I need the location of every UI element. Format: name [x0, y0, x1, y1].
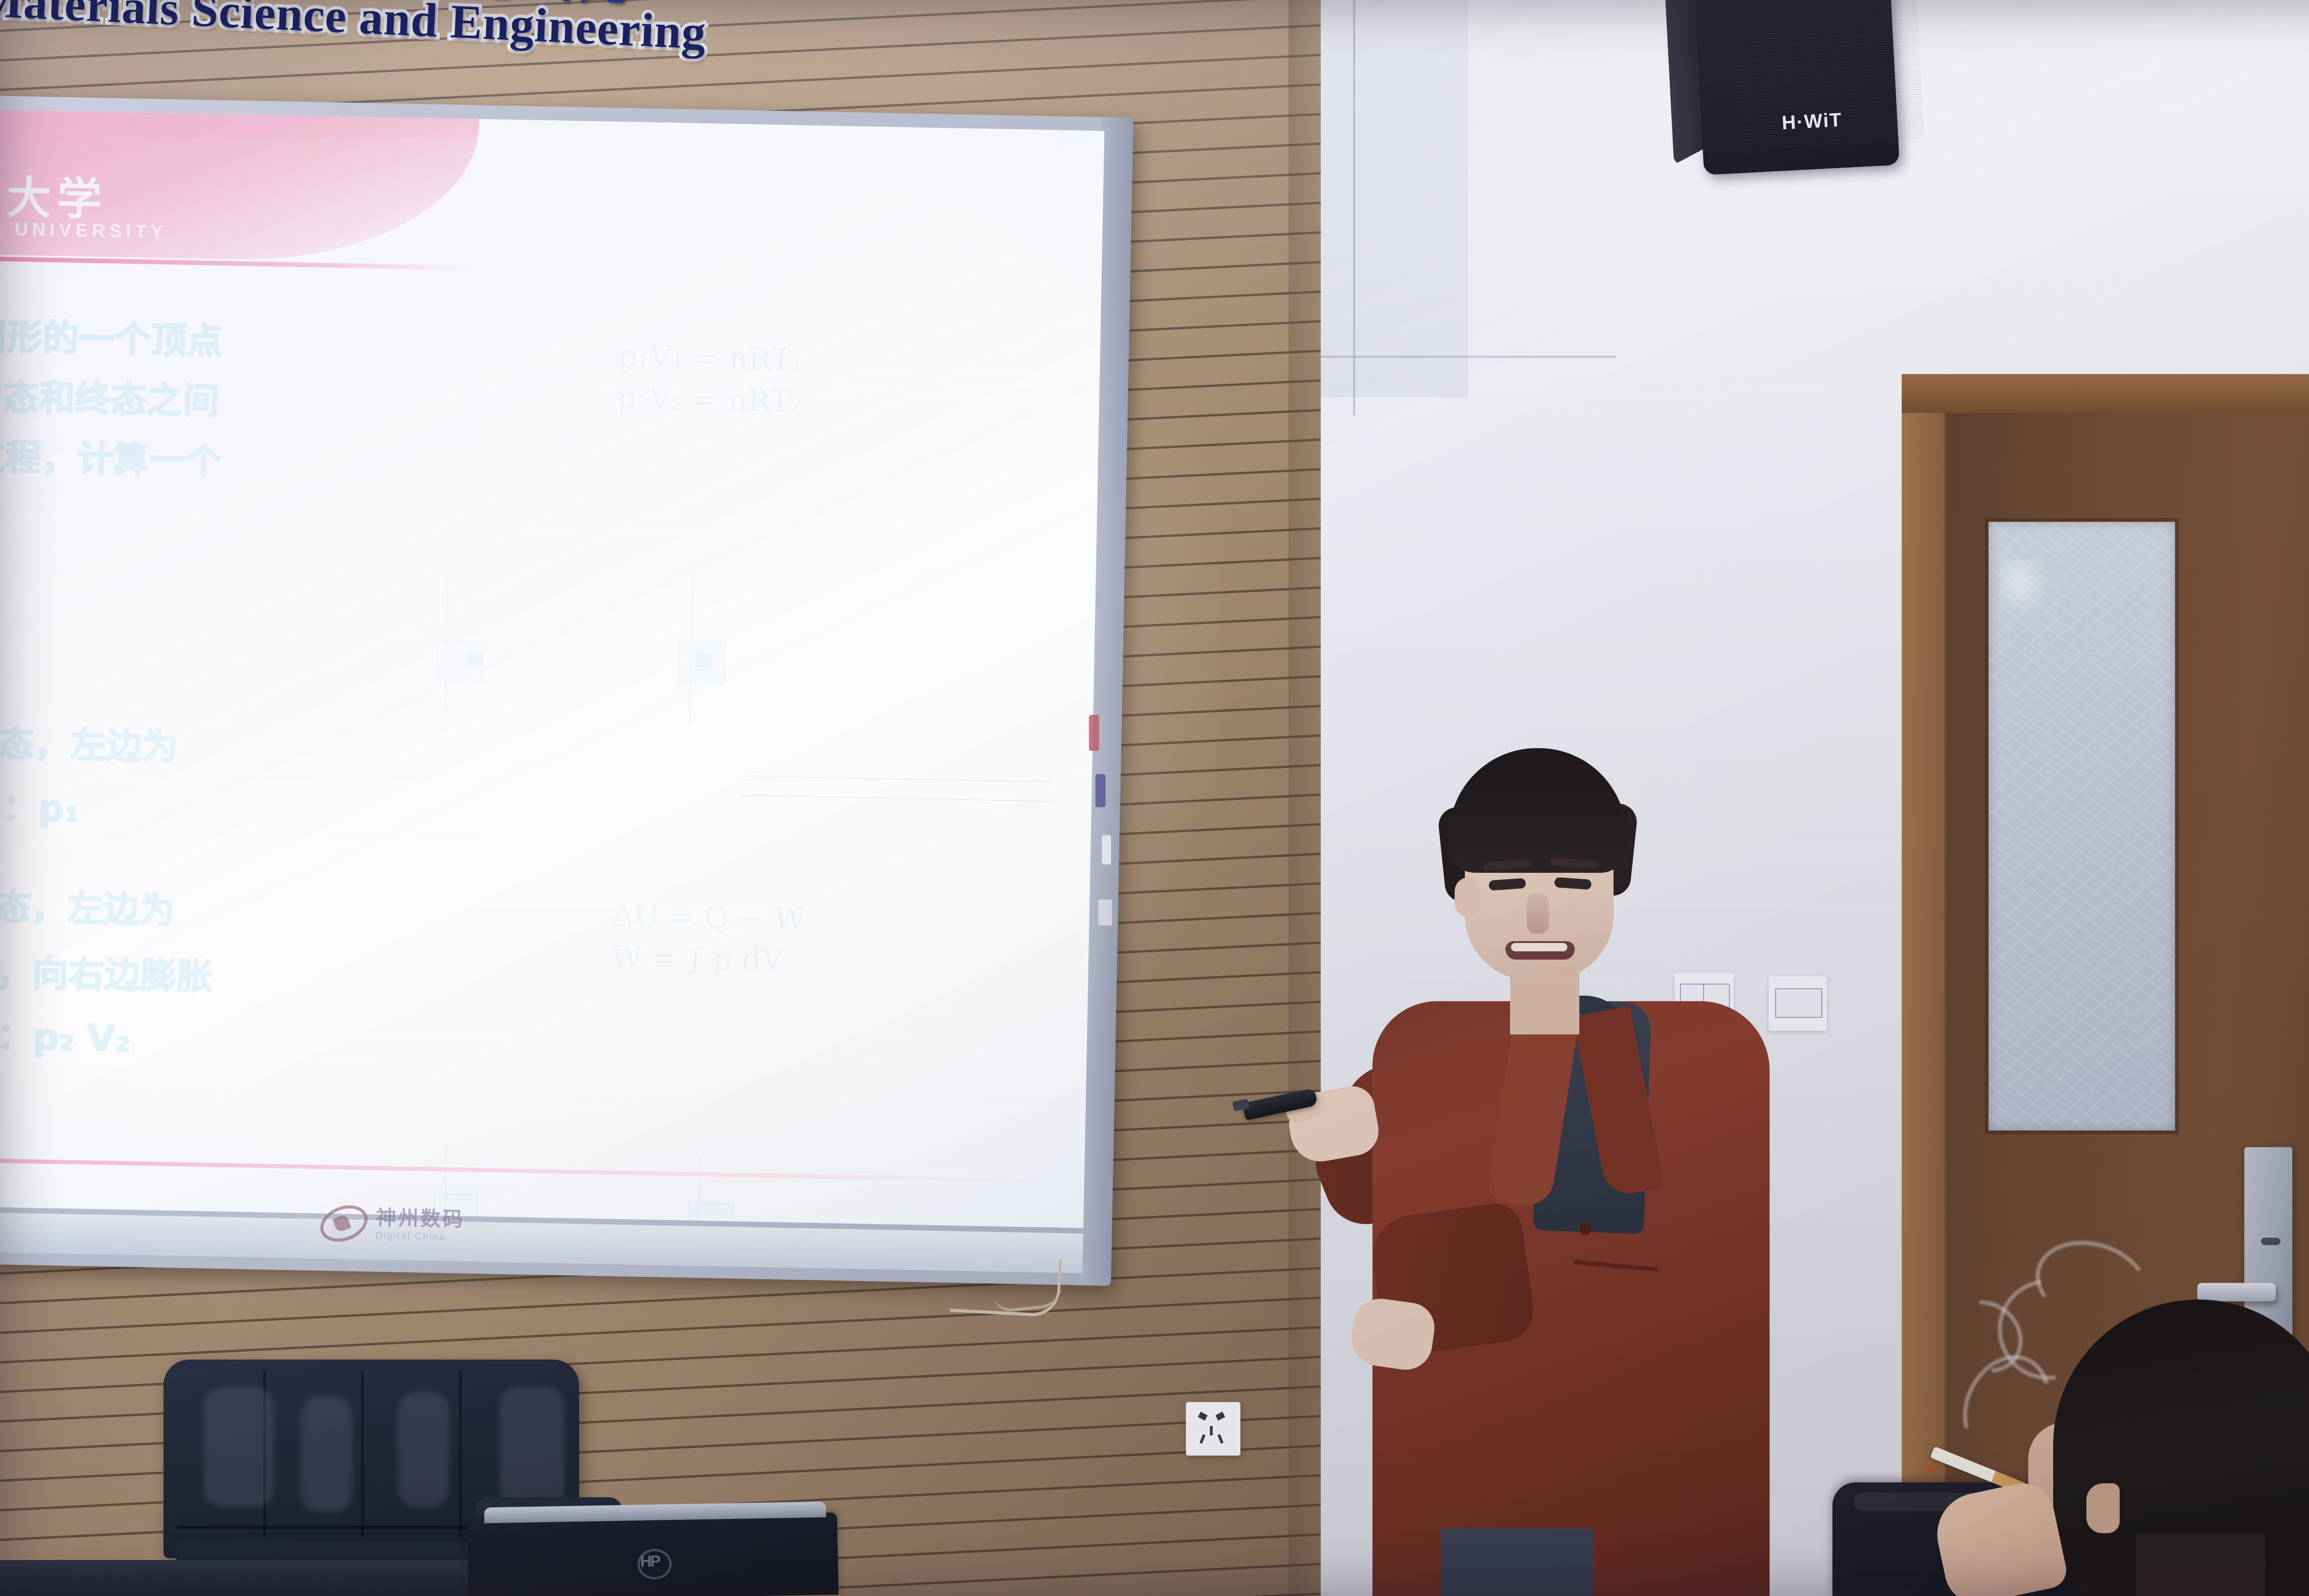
speaker-front-face — [1691, 0, 1900, 175]
lecture-room-photo: 料工程学院 Materials Science and Engineering … — [0, 0, 2309, 1596]
laptop[interactable]: HP — [467, 1501, 838, 1596]
chair-highlight — [500, 1387, 564, 1507]
wall-sign-english: Materials Science and Engineering — [0, 0, 707, 60]
slide-equation: p₁V₁ = nRT₁ — [617, 339, 804, 378]
seated-attendee-ear — [2086, 1483, 2120, 1533]
slide-body-line: 态为：p₁ — [0, 777, 80, 832]
slide-body-line: 程初态和终态之间 — [0, 367, 219, 424]
chair-highlight — [204, 1387, 273, 1507]
marker-clip-white[interactable] — [1102, 835, 1111, 864]
wall-seam-horizontal — [1321, 356, 1616, 358]
slide-diagram-rule — [739, 775, 1053, 783]
presenter-jacket-button — [1579, 1223, 1591, 1235]
desk-surface — [0, 1560, 471, 1596]
slide-body-line: 态为：p₂ V₂ — [0, 1006, 131, 1062]
chair-seam — [459, 1371, 462, 1537]
slide-body-line: 小孔，向右边膨胀 — [0, 943, 213, 1000]
wall-mounted-speaker: H·WiT — [1661, 0, 1900, 190]
interactive-whiteboard[interactable]: 师范大学 NORMAL UNIVERSITY 个图形的一个顶点 程初态和终态之间… — [0, 95, 1133, 1286]
slide-footer-rule — [0, 1158, 1084, 1184]
wall-seam-vertical — [1353, 0, 1355, 416]
brand-name-cn: 神州数码 — [376, 1208, 465, 1230]
slide-diagram-marker — [695, 653, 712, 668]
socket-slot-left — [1198, 1412, 1208, 1421]
socket-slot-lower-right — [1217, 1434, 1223, 1444]
laptop-brand-label: HP — [640, 1553, 659, 1571]
marker-clip-red[interactable] — [1089, 715, 1099, 751]
door-frame-highlight — [1902, 374, 1944, 1596]
door-header — [1902, 374, 2309, 413]
chair-highlight — [301, 1396, 352, 1512]
slide-body-line: 个图形的一个顶点 — [0, 307, 224, 364]
door-keyhole — [2261, 1238, 2280, 1245]
cigarette-ember — [1926, 1465, 1934, 1473]
slide-body-line: 是终态，左边为 — [0, 877, 175, 933]
slide-university-name-cn: 师范大学 — [0, 160, 109, 228]
socket-slot-ground — [1210, 1426, 1213, 1435]
white-wall-upper-panel — [1321, 0, 1469, 397]
network-wall-plate-right[interactable] — [1769, 976, 1827, 1031]
door-glass-highlight — [2000, 559, 2050, 619]
presenter-ear — [1455, 877, 1480, 917]
presenter-hair — [1449, 748, 1626, 873]
wall-plate-window — [1775, 988, 1822, 1018]
brand-text: 神州数码 Digital China — [375, 1208, 465, 1242]
slide-equation: W = ∫ p dV — [610, 939, 784, 978]
slide-equation: ΔU = Q − W — [611, 897, 806, 937]
slide-equation: p₂V₂ = nRT₂ — [617, 380, 803, 419]
presenter-trousers — [1441, 1529, 1593, 1596]
presenter-nose — [1527, 893, 1549, 934]
chair-highlight — [398, 1392, 449, 1507]
seated-attendee — [1984, 1284, 2309, 1596]
slide-diagram-rule — [739, 795, 1053, 802]
socket-slot-lower-left — [1199, 1434, 1205, 1444]
marker-clip-blue[interactable] — [1095, 774, 1106, 807]
wall-label-tag — [1098, 900, 1112, 925]
chair-seam — [361, 1371, 364, 1537]
projected-slide: 师范大学 NORMAL UNIVERSITY 个图形的一个顶点 程初态和终态之间… — [0, 109, 1104, 1228]
slide-body-line: 理过程，计算一个 — [0, 427, 222, 484]
seated-attendee-neck — [2136, 1533, 2266, 1596]
socket-slot-right — [1215, 1412, 1225, 1421]
brand-name-en: Digital China — [375, 1231, 464, 1242]
presenter-teeth — [1511, 943, 1567, 951]
power-socket[interactable] — [1186, 1402, 1240, 1456]
speaker-brand-label: H·WiT — [1781, 109, 1843, 134]
standing-presenter — [1302, 748, 1764, 1596]
whiteboard-surface[interactable]: 师范大学 NORMAL UNIVERSITY 个图形的一个顶点 程初态和终态之间… — [0, 109, 1104, 1228]
whiteboard-brand-logo: 神州数码 Digital China — [319, 1206, 465, 1243]
slide-diagram-marker — [467, 653, 484, 667]
slide-body-line: 是始态，左边为 — [0, 713, 179, 770]
